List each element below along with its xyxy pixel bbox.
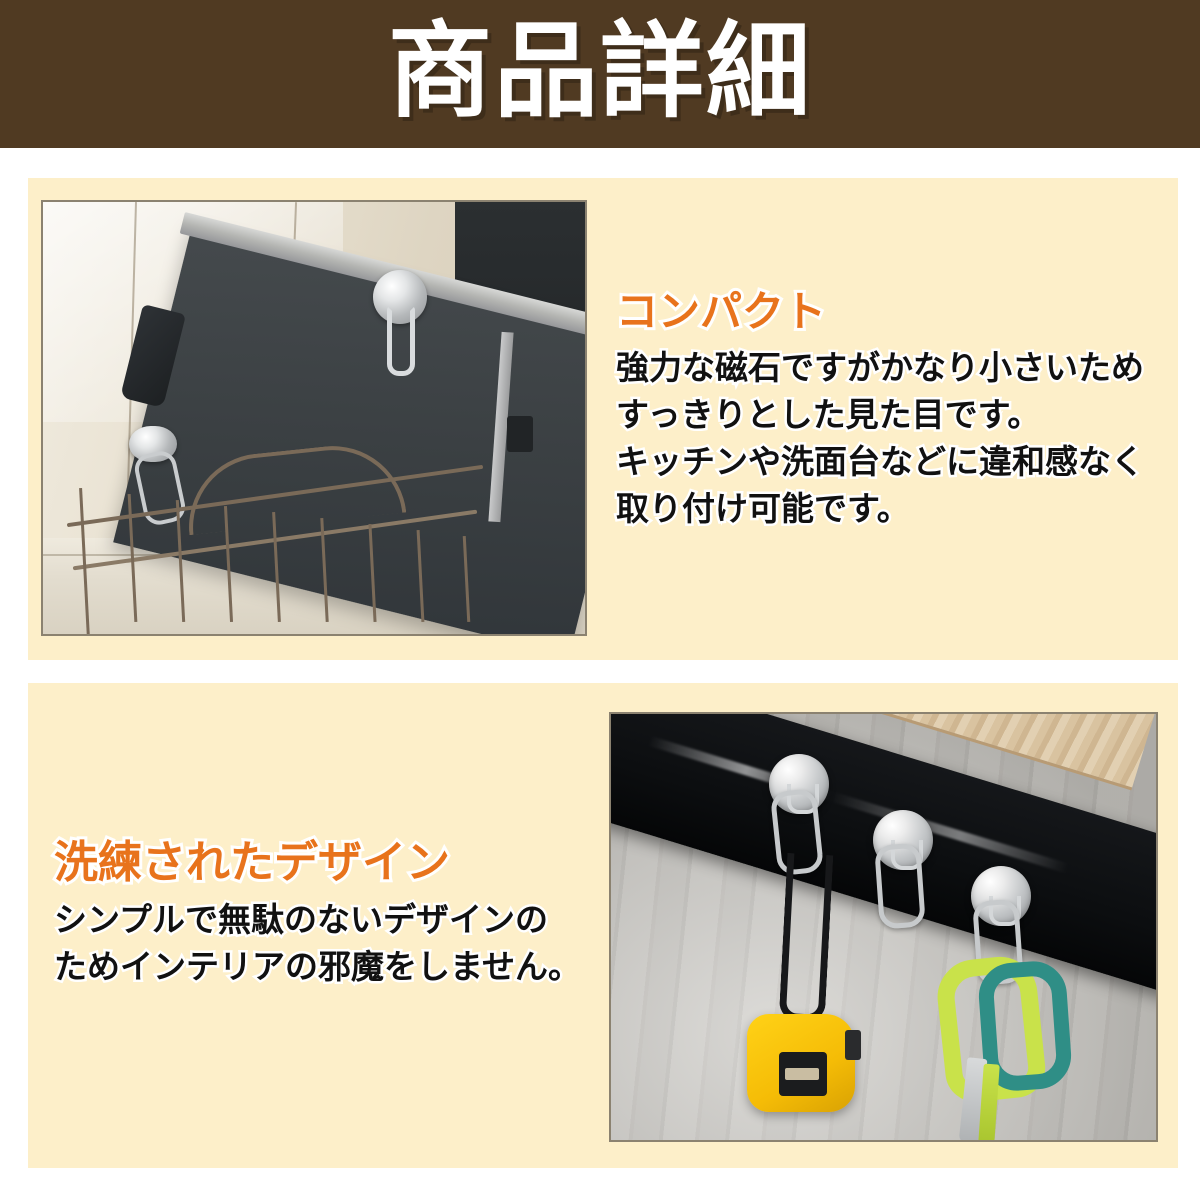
basket-handle bbox=[182, 439, 407, 535]
section-body-line: 取り付け可能です。 bbox=[616, 486, 1172, 533]
magnet-hook-under-cabinet-photo bbox=[41, 200, 587, 636]
page-title: 商品詳細 bbox=[388, 20, 812, 124]
tape-measure-strap bbox=[779, 853, 834, 1022]
section-body-line: シンプルで無駄のないデザインの bbox=[54, 897, 594, 944]
section-body-line: キッチンや洗面台などに違和感なく bbox=[616, 439, 1172, 486]
tape-measure-window bbox=[779, 1052, 827, 1096]
feature-text-compact: コンパクト 強力な磁石ですがかなり小さいため すっきりとした見た目です。 キッチ… bbox=[616, 288, 1172, 532]
page-header: 商品詳細 bbox=[0, 0, 1200, 148]
scissors bbox=[937, 932, 1057, 1140]
wire-basket bbox=[65, 442, 495, 622]
cabinet-hinge-bracket bbox=[507, 416, 533, 452]
tape-measure-lock bbox=[845, 1030, 861, 1060]
basket-wire bbox=[79, 488, 90, 634]
section-body-line: ためインテリアの邪魔をしません。 bbox=[54, 944, 594, 991]
section-body-line: 強力な磁石ですがかなり小さいため bbox=[616, 345, 1172, 392]
section-heading-compact: コンパクト bbox=[616, 288, 1172, 335]
basket-wire bbox=[463, 536, 470, 622]
three-magnet-hooks-photo bbox=[609, 712, 1158, 1142]
carabiner-icon bbox=[874, 842, 926, 929]
basket-wire bbox=[176, 500, 185, 622]
basket-wire bbox=[272, 512, 281, 622]
basket-wire bbox=[417, 530, 425, 622]
section-body-line: すっきりとした見た目です。 bbox=[616, 392, 1172, 439]
section-heading-design: 洗練されたデザイン bbox=[54, 838, 594, 887]
basket-wire bbox=[368, 524, 376, 622]
feature-text-design: 洗練されたデザイン シンプルで無駄のないデザインの ためインテリアの邪魔をしませ… bbox=[54, 838, 594, 991]
tape-measure bbox=[747, 1014, 855, 1112]
hook-wire-icon bbox=[387, 306, 415, 376]
